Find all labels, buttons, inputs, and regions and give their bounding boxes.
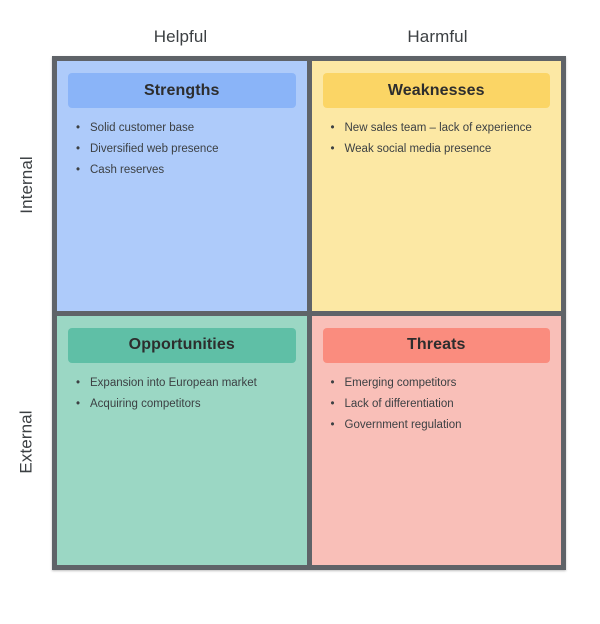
list-item: Solid customer base — [74, 118, 296, 139]
row-label-external: External — [10, 313, 44, 570]
row-label-column: Internal External — [10, 56, 44, 570]
quadrant-weaknesses-list: New sales team – lack of experience Weak… — [323, 118, 551, 160]
column-header-helpful: Helpful — [52, 22, 309, 52]
quadrant-weaknesses[interactable]: Weaknesses New sales team – lack of expe… — [312, 61, 562, 311]
swot-diagram: Helpful Harmful Internal External Streng… — [0, 0, 600, 624]
quadrant-weaknesses-title: Weaknesses — [323, 73, 551, 108]
list-item: Lack of differentiation — [329, 394, 551, 415]
list-item: Weak social media presence — [329, 139, 551, 160]
row-label-internal-text: Internal — [17, 156, 37, 214]
row-label-external-text: External — [17, 410, 37, 473]
quadrant-strengths-list: Solid customer base Diversified web pres… — [68, 118, 296, 181]
list-item: Emerging competitors — [329, 373, 551, 394]
quadrant-strengths[interactable]: Strengths Solid customer base Diversifie… — [57, 61, 307, 311]
quadrant-threats-list: Emerging competitors Lack of differentia… — [323, 373, 551, 436]
list-item: Government regulation — [329, 415, 551, 436]
list-item: Diversified web presence — [74, 139, 296, 160]
quadrant-strengths-title: Strengths — [68, 73, 296, 108]
quadrant-opportunities-list: Expansion into European market Acquiring… — [68, 373, 296, 415]
list-item: Acquiring competitors — [74, 394, 296, 415]
row-label-internal: Internal — [10, 56, 44, 313]
list-item: New sales team – lack of experience — [329, 118, 551, 139]
list-item: Expansion into European market — [74, 373, 296, 394]
list-item: Cash reserves — [74, 160, 296, 181]
column-header-harmful: Harmful — [309, 22, 566, 52]
column-header-row: Helpful Harmful — [52, 22, 566, 52]
quadrant-opportunities-title: Opportunities — [68, 328, 296, 363]
quadrant-threats-title: Threats — [323, 328, 551, 363]
quadrant-threats[interactable]: Threats Emerging competitors Lack of dif… — [312, 316, 562, 566]
quadrant-opportunities[interactable]: Opportunities Expansion into European ma… — [57, 316, 307, 566]
swot-matrix: Strengths Solid customer base Diversifie… — [52, 56, 566, 570]
